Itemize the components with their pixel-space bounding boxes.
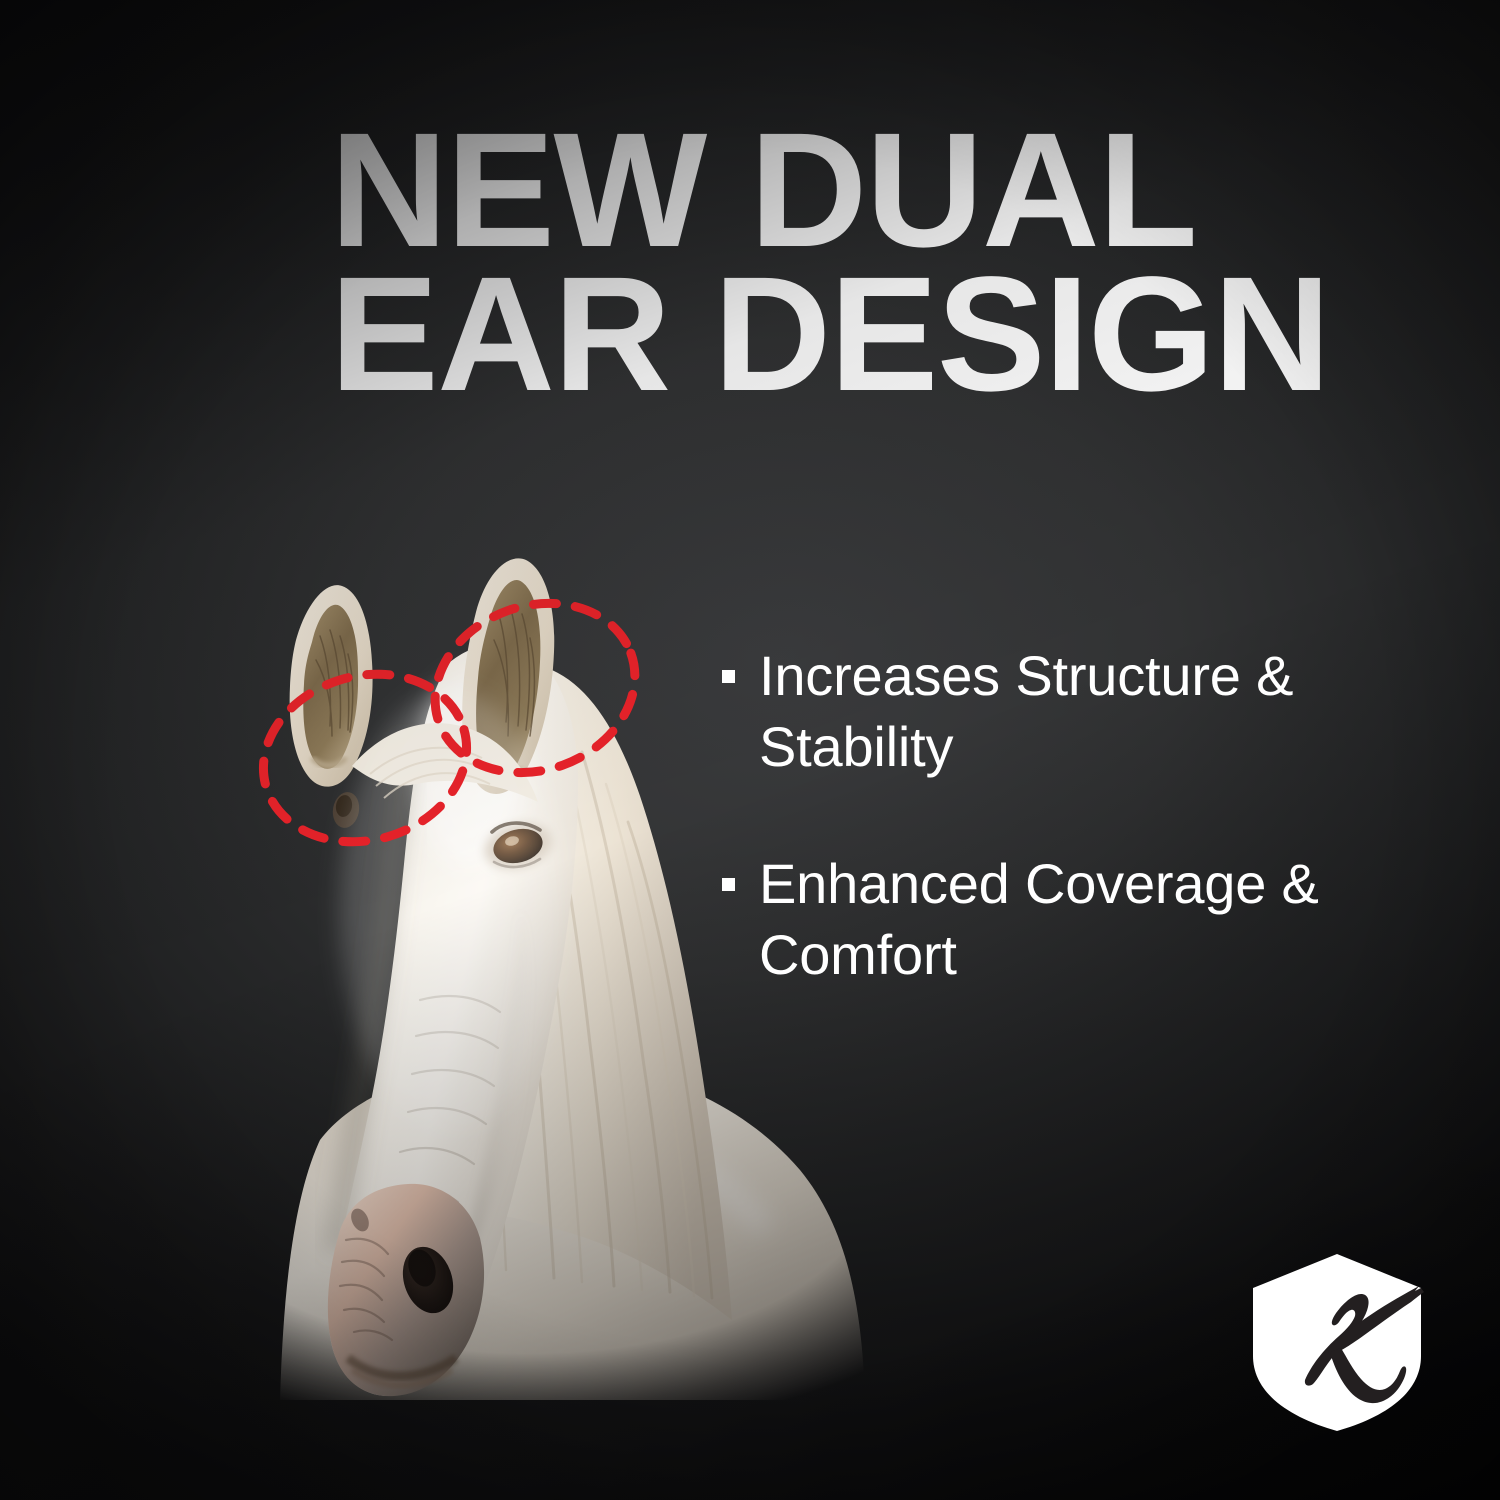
brand-logo	[1243, 1248, 1431, 1436]
feature-list: Increases Structure & Stability Enhanced…	[722, 640, 1422, 1056]
list-item: Enhanced Coverage & Comfort	[722, 848, 1422, 990]
list-item: Increases Structure & Stability	[722, 640, 1422, 782]
feature-text: Increases Structure & Stability	[759, 640, 1389, 782]
promo-banner: NEW DUAL EAR DESIGN	[0, 0, 1500, 1500]
feature-text: Enhanced Coverage & Comfort	[759, 848, 1389, 990]
square-bullet-icon	[722, 670, 735, 683]
square-bullet-icon	[722, 878, 735, 891]
